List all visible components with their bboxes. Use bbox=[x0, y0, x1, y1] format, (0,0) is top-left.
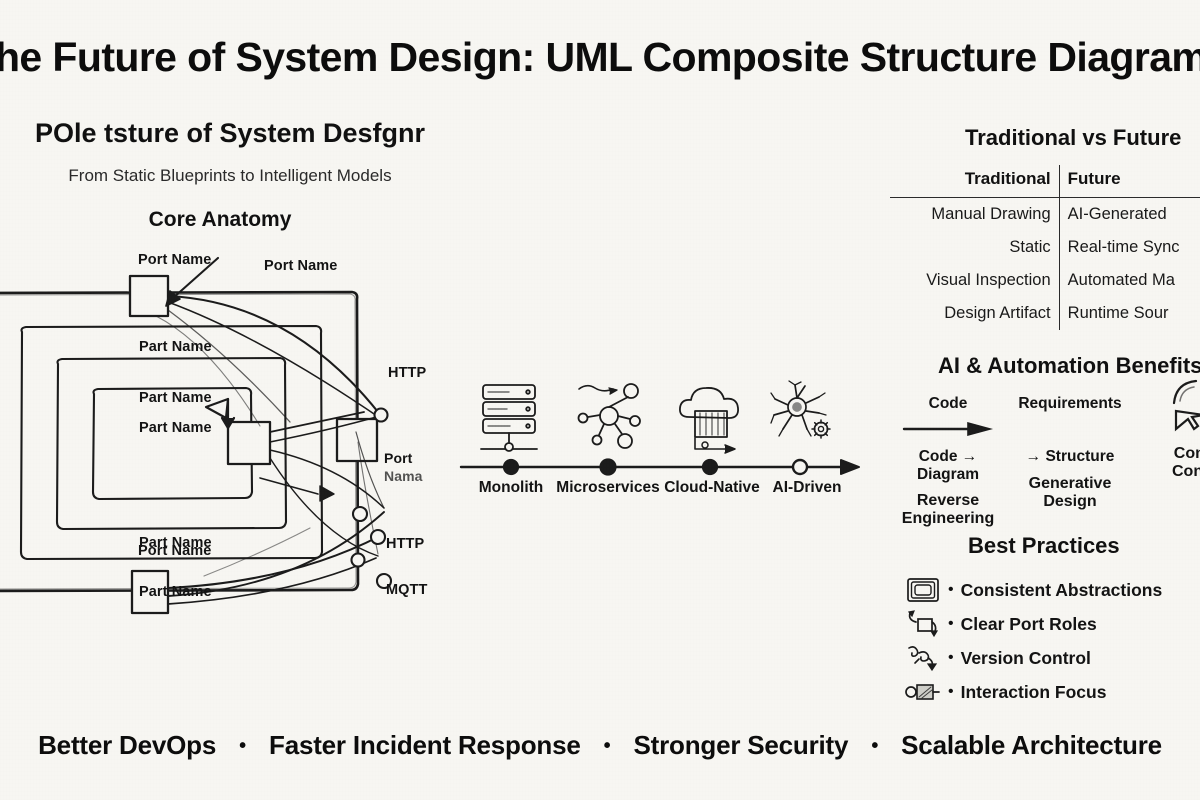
bullet-dot: • bbox=[948, 649, 954, 667]
best-practice-label: Clear Port Roles bbox=[961, 614, 1097, 635]
best-practice-label: Version Control bbox=[961, 648, 1091, 669]
comparison-title: Traditional vs Future bbox=[965, 125, 1181, 151]
cell-traditional: Design Artifact bbox=[890, 297, 1059, 330]
best-practice-label: Interaction Focus bbox=[961, 682, 1107, 703]
timeline-label-monolith: Monolith bbox=[479, 479, 544, 497]
branch-scribble-icon bbox=[900, 644, 946, 672]
best-practice-label: Consistent Abstractions bbox=[961, 580, 1163, 601]
ai-benefit-item: Cont Cons bbox=[1134, 393, 1200, 528]
evolution-timeline: Monolith Microservices Cloud-Native AI-D… bbox=[455, 375, 875, 505]
timeline-label-cloud-native: Cloud-Native bbox=[664, 479, 760, 497]
bullet-dot: • bbox=[948, 683, 954, 701]
table-row: Manual Drawing AI-Generated bbox=[890, 198, 1200, 232]
ai-benefits-title: AI & Automation Benefits bbox=[938, 353, 1200, 379]
table-row: Visual Inspection Automated Ma bbox=[890, 264, 1200, 297]
ai-benefit-item: Requirements → Structure Generative Desi… bbox=[1012, 393, 1128, 528]
arrow-right-icon bbox=[890, 412, 1006, 446]
banner-separator: • bbox=[871, 735, 878, 757]
requirements-icon bbox=[1012, 412, 1128, 446]
part-name-label-2: Part Name bbox=[139, 390, 212, 406]
banner-item-1: Better DevOps bbox=[38, 730, 216, 760]
timeline-label-ai-driven: AI-Driven bbox=[773, 479, 842, 497]
page-title: The Future of System Design: UML Composi… bbox=[0, 34, 1200, 81]
connector-label-http-bottom: HTTP bbox=[386, 536, 424, 552]
cell-future: AI-Generated bbox=[1059, 198, 1200, 232]
cell-traditional: Static bbox=[890, 231, 1059, 264]
ai-benefit-name-line1: Cont bbox=[1134, 445, 1200, 463]
bullet-dot: • bbox=[948, 581, 954, 599]
table-row: Static Real-time Sync bbox=[890, 231, 1200, 264]
ai-benefit-mapping: Code → Diagram bbox=[890, 448, 1006, 483]
table-row: Design Artifact Runtime Sour bbox=[890, 297, 1200, 330]
left-panel-subheading: From Static Blueprints to Intelligent Mo… bbox=[20, 166, 440, 186]
port-right-label-line2: Nama bbox=[384, 468, 423, 484]
cell-traditional: Visual Inspection bbox=[890, 264, 1059, 297]
core-anatomy-heading: Core Anatomy bbox=[20, 208, 420, 232]
list-item: • Interaction Focus bbox=[900, 675, 1200, 709]
list-item: • Version Control bbox=[900, 641, 1200, 675]
part-name-label-4: Part Name bbox=[139, 535, 212, 551]
table-header-row: Traditional Future bbox=[890, 165, 1200, 198]
port-name-label-top: Port Name bbox=[138, 252, 211, 268]
list-item: • Consistent Abstractions bbox=[900, 573, 1200, 607]
banner-separator: • bbox=[239, 735, 246, 757]
port-arrows-icon bbox=[900, 610, 946, 638]
cell-future: Automated Ma bbox=[1059, 264, 1200, 297]
ai-benefit-top: Requirements bbox=[1012, 395, 1128, 412]
port-right-label-line1: Port bbox=[384, 450, 412, 466]
connector-label-mqtt: MQTT bbox=[386, 582, 427, 598]
left-panel: POle tsture of System Desfgnr From Stati… bbox=[0, 118, 460, 718]
nested-rectangles-icon bbox=[900, 577, 946, 603]
connector-plug-icon bbox=[900, 681, 946, 703]
ai-benefit-name-line1: Generative bbox=[1012, 475, 1128, 493]
cell-traditional: Manual Drawing bbox=[890, 198, 1059, 232]
left-panel-heading: POle tsture of System Desfgnr bbox=[20, 118, 440, 149]
banner-separator: • bbox=[604, 735, 611, 757]
timeline-label-microservices: Microservices bbox=[556, 479, 659, 497]
connector-label-http-top: HTTP bbox=[388, 365, 426, 381]
ai-benefit-name-line1: Reverse bbox=[890, 492, 1006, 510]
part-name-label-5: Part Name bbox=[139, 584, 212, 600]
banner-item-3: Stronger Security bbox=[634, 730, 849, 760]
ai-benefit-mapping: → Structure bbox=[1012, 448, 1128, 465]
gauge-cursor-icon bbox=[1134, 379, 1200, 431]
table-header-future: Future bbox=[1059, 165, 1200, 198]
bottom-banner: Better DevOps • Faster Incident Response… bbox=[38, 730, 1162, 761]
best-practices-title: Best Practices bbox=[968, 533, 1120, 559]
ai-benefit-top: Code bbox=[890, 395, 1006, 412]
ai-benefit-name-line2: Engineering bbox=[890, 510, 1006, 528]
ai-benefits-grid: Code Code → Diagram Reverse Engineering … bbox=[890, 393, 1200, 528]
right-panel: Traditional vs Future Traditional Future… bbox=[890, 125, 1200, 715]
comparison-table: Traditional Future Manual Drawing AI-Gen… bbox=[890, 165, 1200, 330]
composite-structure-diagram bbox=[0, 236, 460, 696]
cell-future: Runtime Sour bbox=[1059, 297, 1200, 330]
list-item: • Clear Port Roles bbox=[900, 607, 1200, 641]
bullet-dot: • bbox=[948, 615, 954, 633]
part-name-label-1: Part Name bbox=[139, 339, 212, 355]
best-practices-list: • Consistent Abstractions • bbox=[900, 573, 1200, 709]
ai-benefit-item: Code Code → Diagram Reverse Engineering bbox=[890, 393, 1006, 528]
table-header-traditional: Traditional bbox=[890, 165, 1059, 198]
ai-benefit-name-line2: Design bbox=[1012, 493, 1128, 511]
ai-benefit-name-line2: Cons bbox=[1134, 463, 1200, 481]
part-name-label-3: Part Name bbox=[139, 420, 212, 436]
poster-canvas: The Future of System Design: UML Composi… bbox=[0, 0, 1200, 800]
cell-future: Real-time Sync bbox=[1059, 231, 1200, 264]
banner-item-4: Scalable Architecture bbox=[901, 730, 1162, 760]
banner-item-2: Faster Incident Response bbox=[269, 730, 581, 760]
port-name-label-annotation: Port Name bbox=[264, 258, 337, 274]
